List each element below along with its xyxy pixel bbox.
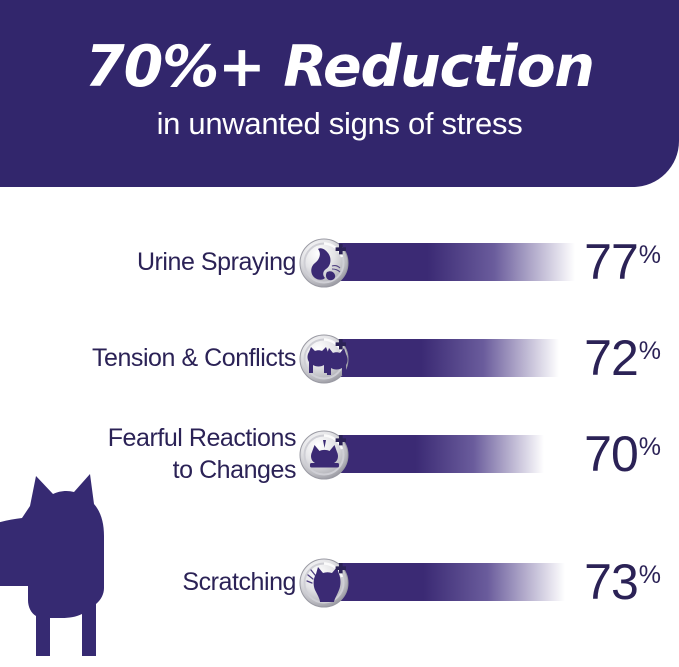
two-cats-conflict-icon bbox=[298, 332, 351, 385]
stat-label-tension-conflicts: Tension & Conflicts bbox=[0, 330, 296, 386]
header-band: 70%+ Reduction in unwanted signs of stre… bbox=[0, 0, 679, 187]
bar-track-tension-conflicts bbox=[337, 339, 559, 377]
percent-sign: % bbox=[639, 563, 661, 588]
stat-value-scratching: 73 % bbox=[584, 554, 661, 610]
scratching-cat-icon bbox=[298, 556, 351, 609]
stat-value-tension-conflicts: 72 % bbox=[584, 330, 661, 386]
infographic-poster: 70%+ Reduction in unwanted signs of stre… bbox=[0, 0, 679, 667]
bar-fill bbox=[337, 243, 575, 281]
stat-row-urine-spraying: Urine Spraying bbox=[0, 234, 679, 290]
fearful-cat-icon bbox=[298, 428, 351, 481]
stat-label-scratching: Scratching bbox=[0, 554, 296, 610]
page-title: 70%+ Reduction bbox=[0, 38, 679, 98]
stat-row-scratching: Scratching bbox=[0, 554, 679, 610]
stat-row-tension-conflicts: Tension & Conflicts bbox=[0, 330, 679, 386]
stat-label-line: to Changes bbox=[173, 454, 296, 486]
bar-fill bbox=[337, 435, 544, 473]
bar-fill bbox=[337, 339, 559, 377]
bar-track-scratching bbox=[337, 563, 565, 601]
stat-row-fearful-reactions: Fearful Reactions to Changes bbox=[0, 426, 679, 482]
percent-sign: % bbox=[639, 339, 661, 364]
percent-sign: % bbox=[639, 435, 661, 460]
bar-track-fearful-reactions bbox=[337, 435, 544, 473]
stats-rows: Urine Spraying bbox=[0, 186, 679, 667]
stat-label-line: Fearful Reactions bbox=[108, 422, 296, 454]
stat-label-fearful-reactions: Fearful Reactions to Changes bbox=[0, 426, 296, 482]
stat-label-urine-spraying: Urine Spraying bbox=[0, 234, 296, 290]
stat-value-number: 77 bbox=[584, 237, 638, 287]
stat-value-number: 72 bbox=[584, 333, 638, 383]
percent-sign: % bbox=[639, 243, 661, 268]
page-subtitle: in unwanted signs of stress bbox=[0, 107, 679, 141]
stat-label-line: Scratching bbox=[182, 566, 296, 598]
stat-value-number: 73 bbox=[584, 557, 638, 607]
stat-label-line: Urine Spraying bbox=[137, 246, 296, 278]
bar-fill bbox=[337, 563, 565, 601]
stat-value-number: 70 bbox=[584, 429, 638, 479]
stat-label-line: Tension & Conflicts bbox=[92, 342, 296, 374]
bar-track-urine-spraying bbox=[337, 243, 575, 281]
stat-value-fearful-reactions: 70 % bbox=[584, 426, 661, 482]
stat-value-urine-spraying: 77 % bbox=[584, 234, 661, 290]
cat-spraying-icon bbox=[298, 236, 351, 289]
